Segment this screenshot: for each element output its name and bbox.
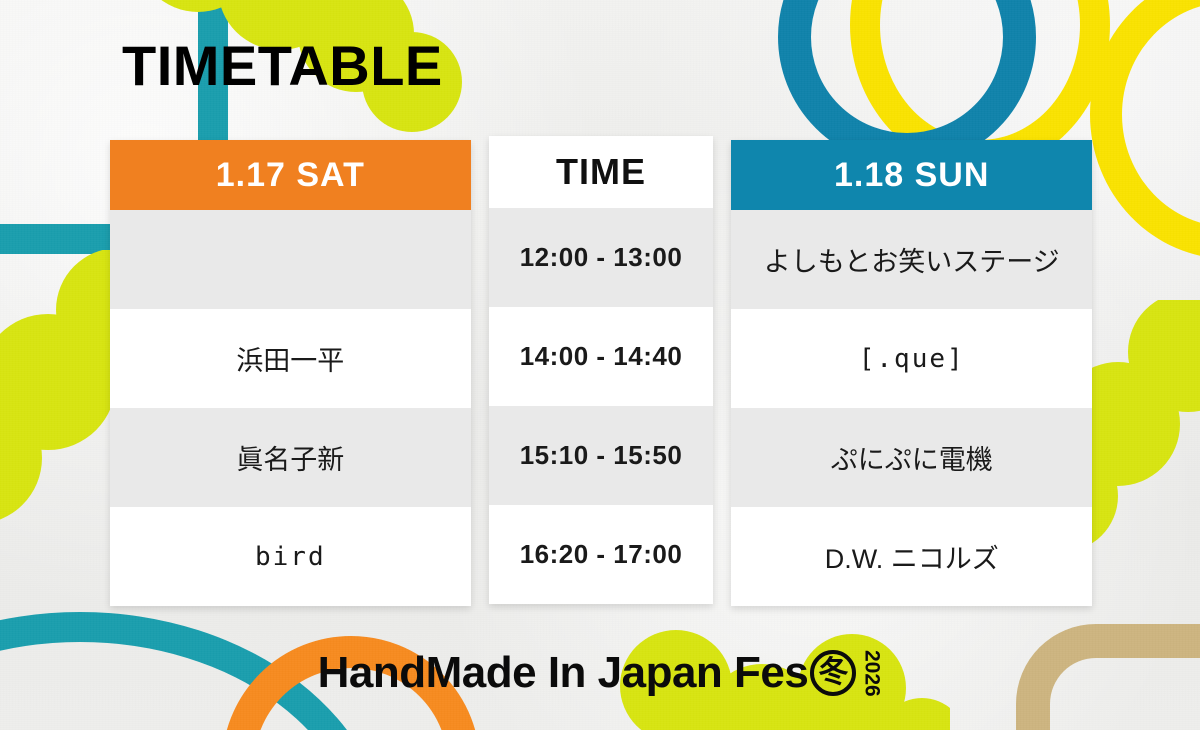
table-cell-sunday-4: D.W. ニコルズ [731, 507, 1092, 606]
event-logo: HandMade In Japan Fes 冬 2026 [0, 648, 1200, 698]
table-cell-time-2: 14:00 - 14:40 [489, 307, 714, 406]
table-cell-saturday-2: 浜田一平 [110, 309, 471, 408]
page-title: TIMETABLE [122, 38, 443, 94]
winter-kanji-badge-icon: 冬 [810, 650, 856, 696]
column-time: TIME 12:00 - 13:00 14:00 - 14:40 15:10 -… [489, 136, 714, 604]
logo-wordmark: HandMade In Japan Fes [318, 648, 809, 698]
table-cell-saturday-4: bird [110, 507, 471, 606]
table-cell-sunday-1: よしもとお笑いステージ [731, 210, 1092, 309]
table-cell-saturday-3: 眞名子新 [110, 408, 471, 507]
logo-year: 2026 [861, 650, 882, 697]
table-cell-time-4: 16:20 - 17:00 [489, 505, 714, 604]
column-header-saturday: 1.17 SAT [110, 140, 471, 210]
table-cell-saturday-1 [110, 210, 471, 309]
table-cell-time-3: 15:10 - 15:50 [489, 406, 714, 505]
timetable: 1.17 SAT 浜田一平 眞名子新 bird TIME 12:00 - 13:… [110, 136, 1092, 606]
poster-canvas: TIMETABLE 1.17 SAT 浜田一平 眞名子新 bird TIME 1… [0, 0, 1200, 730]
table-cell-time-1: 12:00 - 13:00 [489, 208, 714, 307]
column-saturday: 1.17 SAT 浜田一平 眞名子新 bird [110, 140, 471, 606]
column-sunday: 1.18 SUN よしもとお笑いステージ [.que] ぷにぷに電機 D.W. … [731, 140, 1092, 606]
column-header-time: TIME [489, 136, 714, 208]
table-cell-sunday-2: [.que] [731, 309, 1092, 408]
column-header-sunday: 1.18 SUN [731, 140, 1092, 210]
table-cell-sunday-3: ぷにぷに電機 [731, 408, 1092, 507]
